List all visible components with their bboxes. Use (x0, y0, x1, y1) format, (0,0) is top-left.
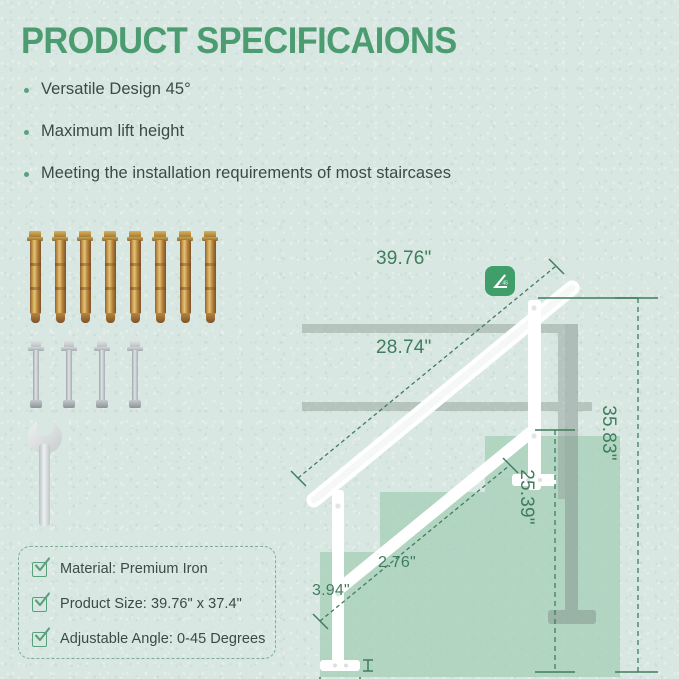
dimension-top-rail-length: 39.76" (376, 248, 432, 270)
checkbox-checked-icon (32, 631, 49, 648)
anchor-bolt-icon (153, 231, 167, 323)
list-item: Product Size: 39.76" x 37.4" (32, 591, 275, 617)
dimension-post-height: 25.39" (515, 469, 537, 525)
anchor-bolt-icon (103, 231, 117, 323)
checkbox-checked-icon (32, 561, 49, 578)
spec-label: Adjustable Angle: 0-45 Degrees (60, 631, 265, 647)
list-item: Versatile Design 45° (22, 78, 622, 100)
anchor-bolt-icon (178, 231, 192, 323)
anchor-bolt-icon (28, 231, 42, 323)
product-specifications-infographic: PRODUCT SPECIFICAIONS Versatile Design 4… (0, 0, 679, 679)
anchor-bolt-icon (53, 231, 67, 323)
dimension-base-plate-width: 3.94" (312, 582, 350, 600)
svg-text:45: 45 (502, 281, 508, 287)
bullet-dot-icon (24, 88, 29, 93)
anchor-bolt-icon (203, 231, 217, 323)
list-item: Maximum lift height (22, 120, 622, 142)
list-item: Adjustable Angle: 0-45 Degrees (32, 626, 275, 652)
page-title: PRODUCT SPECIFICAIONS (21, 20, 457, 62)
spec-label: Material: Premium Iron (60, 561, 208, 577)
hex-bolt-icon (128, 340, 142, 408)
dimension-total-height: 35.83" (597, 405, 619, 461)
feature-bullet-list: Versatile Design 45° Maximum lift height… (22, 78, 622, 204)
bullet-label: Maximum lift height (41, 120, 184, 142)
dimension-base-plate-thickness: 2.76" (378, 554, 416, 572)
bullet-label: Meeting the installation requirements of… (41, 162, 451, 184)
wrench-icon (28, 420, 62, 526)
hex-bolt-icon (62, 340, 76, 408)
list-item: Material: Premium Iron (32, 556, 275, 582)
handrail-dimension-diagram: 39.76" 28.74" 35.83" 25.39" 2.76" 3.94" … (280, 190, 679, 679)
anchor-bolt-icon (78, 231, 92, 323)
hex-bolt-icon (95, 340, 109, 408)
bullet-dot-icon (24, 130, 29, 135)
checkbox-checked-icon (32, 596, 49, 613)
hex-bolt-icon (29, 340, 43, 408)
bullet-label: Versatile Design 45° (41, 78, 191, 100)
bullet-dot-icon (24, 172, 29, 177)
angle-45-icon: 45 (485, 266, 515, 296)
spec-label: Product Size: 39.76" x 37.4" (60, 596, 242, 612)
spec-summary-box: Material: Premium Iron Product Size: 39.… (18, 546, 276, 659)
list-item: Meeting the installation requirements of… (22, 162, 622, 184)
anchor-bolt-icon (128, 231, 142, 323)
dimension-lower-brace-length: 28.74" (376, 337, 432, 359)
